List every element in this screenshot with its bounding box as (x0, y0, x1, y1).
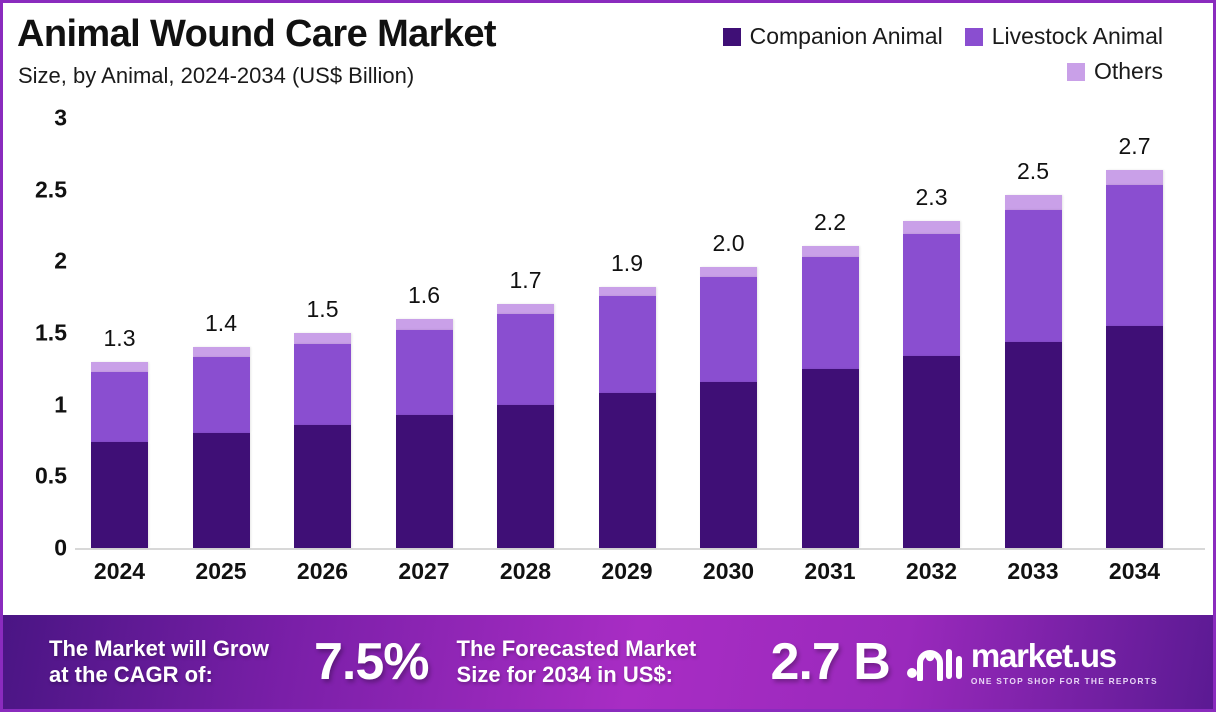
bar-segment[interactable] (91, 372, 148, 442)
legend-swatch-icon (965, 28, 983, 46)
bar-segment[interactable] (802, 257, 859, 369)
bar-stack[interactable] (700, 267, 757, 548)
y-axis-tick-label: 2 (54, 248, 67, 275)
bar-segment[interactable] (700, 277, 757, 382)
market-us-logo-icon (906, 643, 962, 681)
bar-group[interactable]: 1.3 (91, 362, 148, 548)
page-title: Animal Wound Care Market (17, 13, 496, 56)
bar-group[interactable]: 2.7 (1106, 170, 1163, 548)
bar-stack[interactable] (91, 362, 148, 548)
bar-segment[interactable] (1005, 342, 1062, 548)
legend-item[interactable]: Others (1067, 58, 1163, 85)
y-axis-tick-label: 3 (54, 105, 67, 132)
cagr-value: 7.5% (314, 632, 429, 692)
bar-group[interactable]: 2.3 (903, 221, 960, 548)
bar-group[interactable]: 2.5 (1005, 195, 1062, 548)
bar-value-label: 1.7 (510, 267, 542, 294)
legend-swatch-icon (723, 28, 741, 46)
cagr-caption: The Market will Growat the CAGR of: (49, 636, 304, 687)
forecast-value: 2.7 B (771, 632, 890, 692)
bar-value-label: 1.6 (408, 282, 440, 309)
x-axis-tick-label: 2032 (903, 558, 960, 585)
bar-segment[interactable] (700, 267, 757, 277)
bar-segment[interactable] (294, 344, 351, 424)
bar-segment[interactable] (1005, 210, 1062, 342)
bar-stack[interactable] (396, 319, 453, 548)
bar-group[interactable]: 1.5 (294, 333, 351, 548)
market-us-logo[interactable]: market.us ONE STOP SHOP FOR THE REPORTS (906, 639, 1158, 686)
bar-segment[interactable] (599, 296, 656, 393)
logo-name: market.us (971, 639, 1158, 672)
bar-segment[interactable] (193, 347, 250, 357)
bar-group[interactable]: 1.4 (193, 347, 250, 548)
bar-stack[interactable] (193, 347, 250, 548)
legend-item[interactable]: Livestock Animal (965, 23, 1163, 50)
bar-value-label: 2.0 (713, 230, 745, 257)
bar-value-label: 1.9 (611, 250, 643, 277)
legend-swatch-icon (1067, 63, 1085, 81)
bar-segment[interactable] (599, 287, 656, 296)
bar-series-container: 1.31.41.51.61.71.92.02.22.32.52.7 (83, 103, 1203, 548)
bar-value-label: 1.5 (307, 296, 339, 323)
x-axis-tick-label: 2034 (1106, 558, 1163, 585)
bar-segment[interactable] (91, 362, 148, 372)
bar-segment[interactable] (802, 246, 859, 257)
bar-segment[interactable] (396, 319, 453, 330)
bar-segment[interactable] (1106, 185, 1163, 325)
bar-segment[interactable] (599, 393, 656, 548)
bar-segment[interactable] (700, 382, 757, 548)
x-axis-tick-label: 2026 (294, 558, 351, 585)
legend-label: Livestock Animal (992, 23, 1163, 50)
bar-segment[interactable] (1106, 326, 1163, 548)
bar-segment[interactable] (193, 433, 250, 548)
bar-value-label: 2.2 (814, 209, 846, 236)
bar-segment[interactable] (396, 330, 453, 415)
y-axis-tick-label: 0 (54, 535, 67, 562)
infographic-card: Animal Wound Care Market Size, by Animal… (0, 0, 1216, 712)
logo-tagline: ONE STOP SHOP FOR THE REPORTS (971, 676, 1158, 686)
y-axis-tick-label: 1.5 (35, 320, 67, 347)
bar-segment[interactable] (497, 405, 554, 548)
bar-value-label: 1.4 (205, 310, 237, 337)
bar-group[interactable]: 2.0 (700, 267, 757, 548)
bar-group[interactable]: 2.2 (802, 246, 859, 548)
legend-item[interactable]: Companion Animal (723, 23, 943, 50)
bar-stack[interactable] (903, 221, 960, 548)
axis-baseline (75, 548, 1205, 550)
chart-legend: Companion AnimalLivestock AnimalOthers (623, 23, 1163, 85)
bar-value-label: 2.3 (916, 184, 948, 211)
y-axis-tick-label: 1 (54, 391, 67, 418)
bar-group[interactable]: 1.7 (497, 304, 554, 548)
logo-wordmark: market.us ONE STOP SHOP FOR THE REPORTS (971, 639, 1158, 686)
y-axis-tick-label: 0.5 (35, 463, 67, 490)
bar-stack[interactable] (1106, 170, 1163, 548)
bar-segment[interactable] (294, 333, 351, 344)
x-axis-tick-label: 2025 (193, 558, 250, 585)
bar-segment[interactable] (903, 356, 960, 548)
y-axis-tick-label: 2.5 (35, 176, 67, 203)
bar-value-label: 2.7 (1119, 133, 1151, 160)
bar-segment[interactable] (903, 234, 960, 356)
bar-segment[interactable] (91, 442, 148, 548)
bar-value-label: 1.3 (104, 325, 136, 352)
legend-label: Companion Animal (750, 23, 943, 50)
x-axis-tick-label: 2029 (599, 558, 656, 585)
x-axis-tick-label: 2028 (497, 558, 554, 585)
bar-stack[interactable] (802, 246, 859, 548)
bar-value-label: 2.5 (1017, 158, 1049, 185)
page-subtitle: Size, by Animal, 2024-2034 (US$ Billion) (18, 63, 414, 89)
bar-group[interactable]: 1.9 (599, 287, 656, 548)
x-axis-tick-label: 2024 (91, 558, 148, 585)
x-axis: 2024202520262027202820292030203120322033… (83, 558, 1203, 598)
bar-stack[interactable] (497, 304, 554, 548)
bar-segment[interactable] (1005, 195, 1062, 209)
bar-segment[interactable] (396, 415, 453, 548)
bar-segment[interactable] (193, 357, 250, 433)
x-axis-tick-label: 2033 (1005, 558, 1062, 585)
bar-stack[interactable] (1005, 195, 1062, 548)
bar-segment[interactable] (497, 314, 554, 404)
bar-segment[interactable] (802, 369, 859, 548)
bar-segment[interactable] (497, 304, 554, 314)
chart-plot-area: 00.511.522.53 1.31.41.51.61.71.92.02.22.… (3, 103, 1213, 608)
bar-group[interactable]: 1.6 (396, 319, 453, 548)
x-axis-tick-label: 2027 (396, 558, 453, 585)
x-axis-tick-label: 2030 (700, 558, 757, 585)
bar-stack[interactable] (294, 333, 351, 548)
bar-segment[interactable] (1106, 170, 1163, 186)
x-axis-tick-label: 2031 (802, 558, 859, 585)
forecast-caption: The Forecasted MarketSize for 2034 in US… (457, 636, 757, 687)
bar-segment[interactable] (903, 221, 960, 234)
legend-label: Others (1094, 58, 1163, 85)
footer-banner: The Market will Growat the CAGR of: 7.5%… (3, 615, 1213, 709)
bar-stack[interactable] (599, 287, 656, 548)
bar-segment[interactable] (294, 425, 351, 548)
y-axis: 00.511.522.53 (3, 103, 75, 563)
